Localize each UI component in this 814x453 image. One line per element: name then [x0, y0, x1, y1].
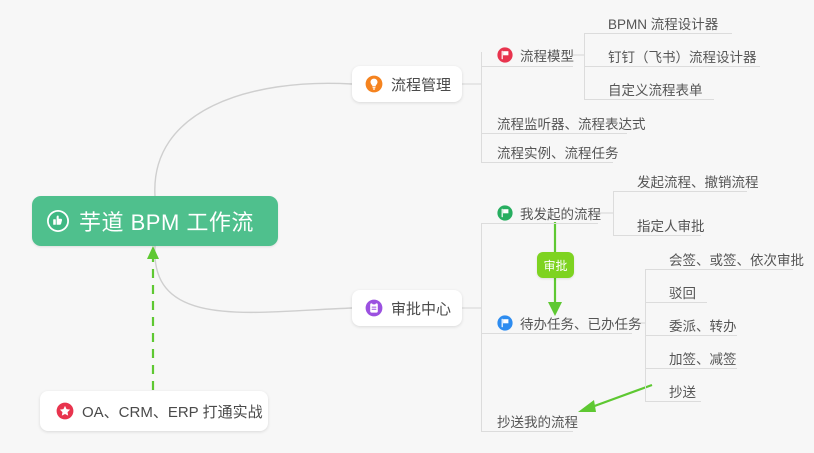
node-approval-center-label: 审批中心: [391, 298, 451, 319]
approval-badge-label: 审批: [543, 257, 567, 274]
leaf-process-model[interactable]: 流程模型: [489, 45, 582, 70]
leaf-cc[interactable]: 抄送: [661, 381, 704, 406]
spine-process-management: [481, 52, 482, 162]
spine-approval-center: [481, 223, 482, 431]
approval-badge[interactable]: 审批: [537, 252, 574, 278]
leaf-reject-label: 驳回: [669, 282, 696, 302]
leaf-cc-to-me[interactable]: 抄送我的流程: [489, 411, 586, 436]
leaf-dingtalk-designer[interactable]: 钉钉（飞书）流程设计器: [600, 46, 765, 71]
leaf-custom-form-label: 自定义流程表单: [608, 79, 703, 99]
node-process-management-label: 流程管理: [391, 74, 451, 95]
link-root-to-approval-center: [155, 246, 352, 312]
lightbulb-icon: [365, 75, 383, 93]
leaf-delegate-transfer-label: 委派、转办: [669, 315, 737, 335]
leaf-reject[interactable]: 驳回: [661, 282, 704, 307]
thumbs-up-icon: [46, 209, 70, 233]
leaf-process-listener[interactable]: 流程监听器、流程表达式: [489, 113, 654, 138]
flag-icon: [497, 315, 513, 331]
root-label: 芋道 BPM 工作流: [79, 205, 254, 237]
root-node[interactable]: 芋道 BPM 工作流: [32, 196, 278, 246]
leaf-process-instance-label: 流程实例、流程任务: [497, 142, 619, 162]
leaf-process-model-label: 流程模型: [520, 45, 574, 65]
flag-icon: [497, 47, 513, 63]
leaf-todo-tasks-label: 待办任务、已办任务: [520, 313, 642, 333]
node-approval-center[interactable]: 审批中心: [352, 290, 462, 326]
star-icon: [56, 402, 74, 420]
link-root-to-process-management: [155, 83, 352, 196]
leaf-delegate-transfer[interactable]: 委派、转办: [661, 315, 745, 340]
dashed-arrow-head: [147, 246, 159, 259]
leaf-bpmn-designer[interactable]: BPMN 流程设计器: [600, 13, 726, 38]
node-oa-crm-erp-label: OA、CRM、ERP 打通实战: [82, 401, 263, 422]
leaf-process-instance[interactable]: 流程实例、流程任务: [489, 142, 627, 167]
leaf-assignee-approval-label: 指定人审批: [637, 215, 705, 235]
node-process-management[interactable]: 流程管理: [352, 66, 462, 102]
leaf-add-remove-sign[interactable]: 加签、减签: [661, 348, 745, 373]
solid-arrow-shaft: [589, 385, 652, 408]
spine-my-processes: [613, 191, 614, 235]
flag-icon: [497, 205, 513, 221]
leaf-cc-label: 抄送: [669, 381, 696, 401]
leaf-dingtalk-designer-label: 钉钉（飞书）流程设计器: [608, 46, 757, 66]
node-oa-crm-erp[interactable]: OA、CRM、ERP 打通实战: [40, 391, 268, 431]
leaf-start-cancel-process[interactable]: 发起流程、撤销流程: [629, 171, 767, 196]
leaf-process-listener-label: 流程监听器、流程表达式: [497, 113, 646, 133]
leaf-todo-tasks[interactable]: 待办任务、已办任务: [489, 313, 650, 338]
leaf-my-processes[interactable]: 我发起的流程: [489, 203, 609, 228]
leaf-bpmn-designer-label: BPMN 流程设计器: [608, 13, 718, 33]
leaf-custom-form[interactable]: 自定义流程表单: [600, 79, 711, 104]
leaf-assignee-approval[interactable]: 指定人审批: [629, 215, 713, 240]
mindmap-canvas: 芋道 BPM 工作流 流程管理 流程模型 流程监听器、流程表达式 流程实例、流程: [0, 0, 814, 453]
leaf-start-cancel-process-label: 发起流程、撤销流程: [637, 171, 759, 191]
leaf-countersign[interactable]: 会签、或签、依次审批: [661, 249, 812, 274]
leaf-my-processes-label: 我发起的流程: [520, 203, 601, 223]
leaf-countersign-label: 会签、或签、依次审批: [669, 249, 804, 269]
leaf-cc-to-me-label: 抄送我的流程: [497, 411, 578, 431]
leaf-add-remove-sign-label: 加签、减签: [669, 348, 737, 368]
clipboard-icon: [365, 299, 383, 317]
